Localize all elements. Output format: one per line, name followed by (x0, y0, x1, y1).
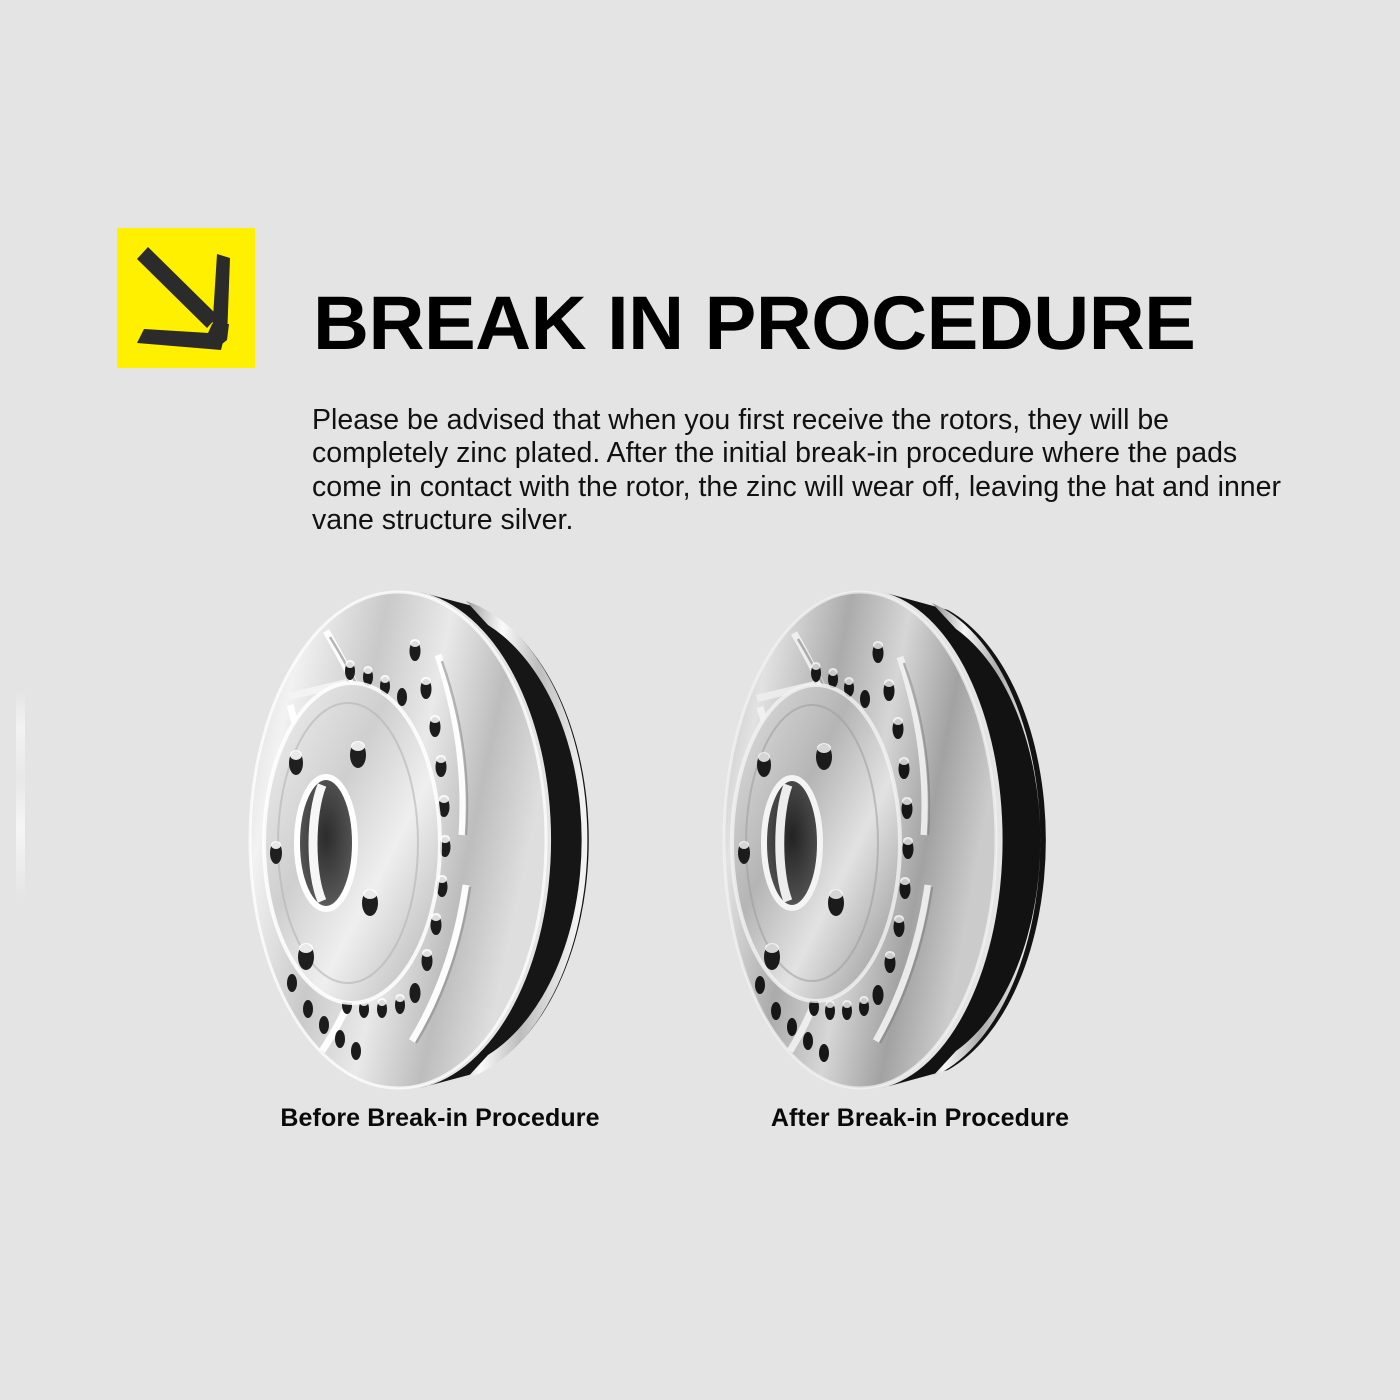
caption-before: Before Break-in Procedure (230, 1104, 650, 1133)
caption-after: After Break-in Procedure (710, 1104, 1130, 1133)
comparison-item-before: Before Break-in Procedure (230, 585, 650, 1160)
comparison-item-after: After Break-in Procedure (710, 585, 1130, 1160)
arrow-down-right-icon (117, 228, 255, 368)
rotor-hat (264, 683, 440, 1003)
left-edge-highlight (16, 690, 25, 900)
intro-paragraph: Please be advised that when you first re… (312, 404, 1287, 538)
comparison-section: Before Break-in Procedure (150, 585, 1250, 1160)
arrow-badge (117, 228, 255, 368)
brake-rotor-icon (710, 585, 1130, 1095)
header: BREAK IN PROCEDURE (117, 228, 1297, 378)
page-title: BREAK IN PROCEDURE (313, 282, 1195, 366)
rotor-image-before (230, 585, 650, 1095)
rotor-hat (732, 685, 900, 1001)
page-root: BREAK IN PROCEDURE Please be advised tha… (0, 0, 1400, 1400)
rotor-image-after (710, 585, 1130, 1095)
brake-rotor-icon (230, 585, 650, 1095)
